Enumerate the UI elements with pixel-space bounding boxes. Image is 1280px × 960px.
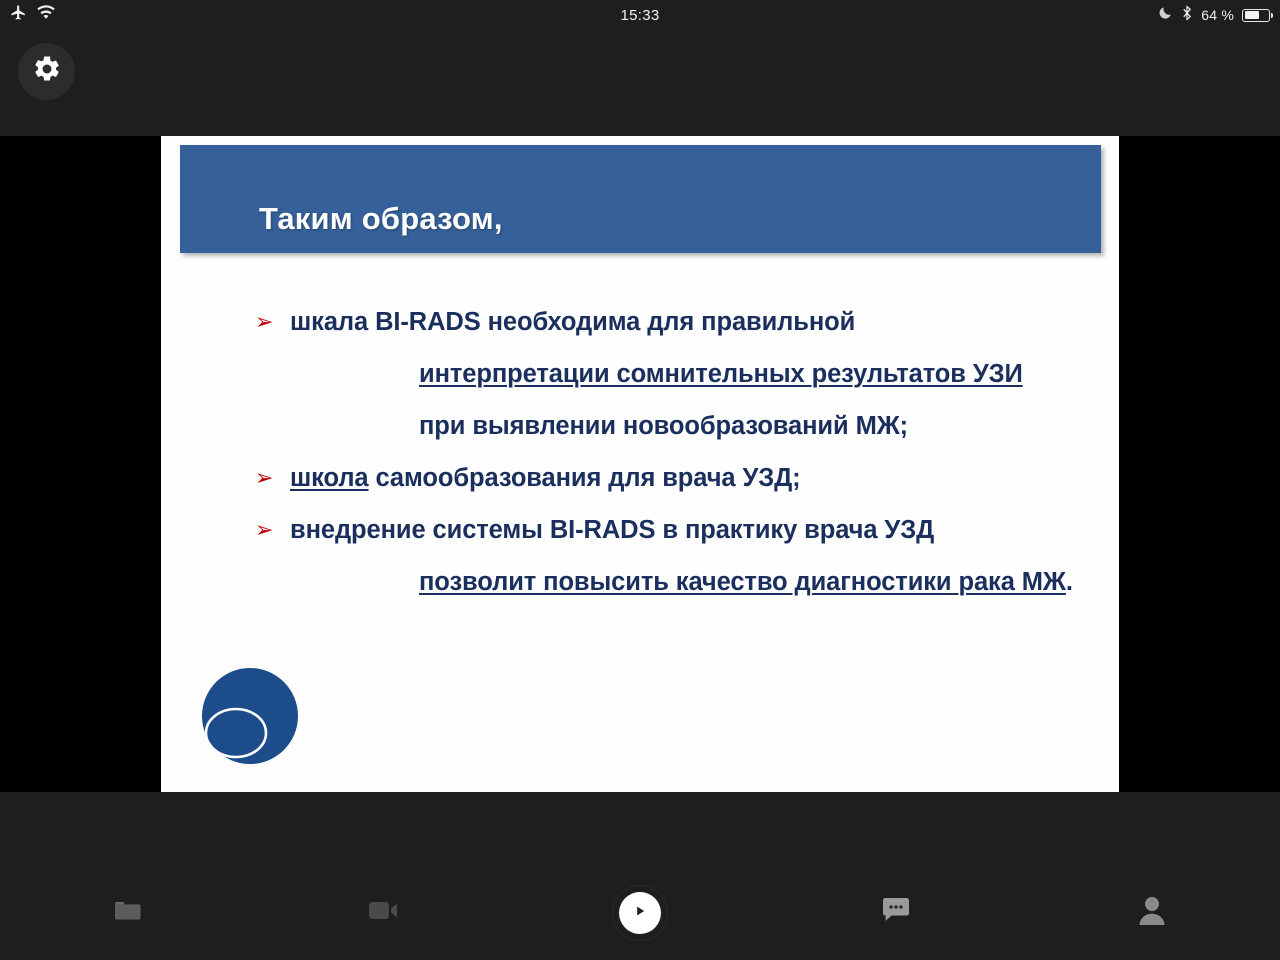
bullet-arrow-icon: ➢ xyxy=(161,452,290,504)
person-icon xyxy=(1138,896,1166,930)
status-bar-clock: 15:33 xyxy=(0,7,1280,24)
presentation-slide[interactable]: Таким образом, ➢шкала BI-RADS необходима… xyxy=(161,136,1119,792)
folder-icon xyxy=(113,899,143,928)
plain-text: самообразования для врача УЗД; xyxy=(369,464,801,492)
chat-bubble-icon xyxy=(881,897,911,929)
status-bar-right: 64 % xyxy=(1158,5,1270,26)
slide-stage[interactable]: Таким образом, ➢шкала BI-RADS необходима… xyxy=(0,136,1280,792)
toolbar-item-profile[interactable] xyxy=(1024,896,1280,930)
bullet-item: ➢ внедрение системы BI-RADS в практику в… xyxy=(161,504,1119,556)
toolbar-item-files[interactable] xyxy=(0,899,256,928)
bullet-item: ➢школа самообразования для врача УЗД; xyxy=(161,452,1119,504)
underlined-text: интерпретации сомнительных результатов У… xyxy=(419,360,1023,388)
plain-text: внедрение системы BI-RADS в практику вра… xyxy=(290,516,934,544)
bullet-item: ➢шкала BI-RADS необходима для правильной xyxy=(161,296,1119,348)
bullet-arrow-icon: ➢ xyxy=(161,504,290,556)
bullet-continuation-line: интерпретации сомнительных результатов У… xyxy=(161,348,1119,400)
moon-icon xyxy=(1158,5,1173,25)
bullet-continuation-line: при выявлении новообразований МЖ; xyxy=(161,400,1119,452)
plain-text: при выявлении новообразований МЖ; xyxy=(419,412,908,440)
bullet-text-line: позволит повысить качество диагностики р… xyxy=(290,556,1073,608)
bluetooth-icon xyxy=(1181,5,1193,26)
bullet-text-line: внедрение системы BI-RADS в практику вра… xyxy=(290,504,934,556)
bottom-toolbar xyxy=(0,792,1280,960)
toolbar-item-video[interactable] xyxy=(256,899,512,927)
slide-body: ➢шкала BI-RADS необходима для правильной… xyxy=(161,296,1119,608)
bullet-text-line: интерпретации сомнительных результатов У… xyxy=(290,348,1023,400)
plain-text: шкала BI-RADS необходима для правильной xyxy=(290,308,855,336)
play-button[interactable] xyxy=(619,892,661,934)
bullet-continuation-line: позволит повысить качество диагностики р… xyxy=(161,556,1119,608)
battery-icon xyxy=(1242,9,1270,22)
toolbar-item-chat[interactable] xyxy=(768,897,1024,929)
bullet-arrow-icon: ➢ xyxy=(161,296,290,348)
toolbar-item-play[interactable] xyxy=(512,892,768,934)
slide-title-banner: Таким образом, xyxy=(180,145,1101,253)
app-root: 15:33 64 % xyxy=(0,0,1280,960)
slide-title: Таким образом, xyxy=(180,201,503,253)
bullet-text-line: школа самообразования для врача УЗД; xyxy=(290,452,801,504)
top-bar xyxy=(0,30,1280,136)
underlined-text: школа xyxy=(290,464,369,492)
plain-text: . xyxy=(1066,568,1073,596)
status-bar: 15:33 64 % xyxy=(0,0,1280,30)
bullet-text-line: шкала BI-RADS необходима для правильной xyxy=(290,296,855,348)
video-camera-icon xyxy=(368,899,400,927)
underlined-text: позволит повысить качество диагностики р… xyxy=(419,568,1066,596)
play-icon xyxy=(633,904,647,923)
toolbar-icons xyxy=(0,866,1280,960)
battery-percentage: 64 % xyxy=(1201,7,1234,23)
blue-circle-logo xyxy=(194,668,300,774)
gear-icon xyxy=(32,54,62,89)
bullet-text-line: при выявлении новообразований МЖ; xyxy=(290,400,908,452)
settings-button[interactable] xyxy=(18,43,75,100)
